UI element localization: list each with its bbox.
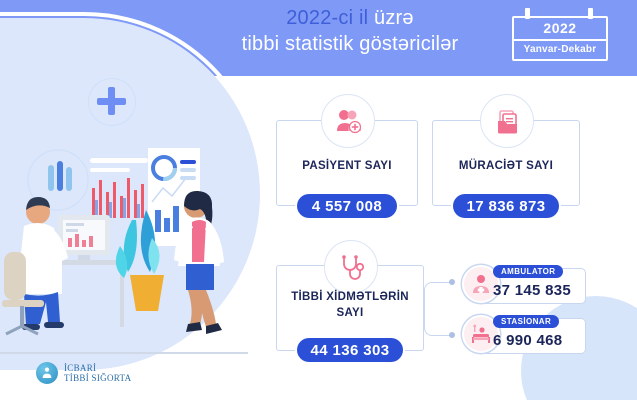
stethoscope-icon [324, 240, 378, 294]
title-line-2: tibbi statistik göstəricilər [200, 32, 500, 58]
card-muraciet-value: 17 836 873 [453, 194, 559, 218]
connector-dot-stasionar [449, 332, 455, 338]
clinic-scene-illustration [0, 60, 250, 360]
card-tibbi-xidmet-label: TİBBİ XİDMƏTLƏRİN SAYI [276, 290, 424, 321]
title-accent-text: 2022-ci il [286, 7, 374, 29]
card-tibbi-xidmet-value: 44 136 303 [297, 338, 403, 362]
card-muraciet-label: MÜRACİƏT SAYI [432, 159, 580, 175]
logo-line-2: TİBBİ SIĞORTA [64, 373, 131, 383]
illustration [0, 60, 250, 360]
logo-line-1: İCBARİ [64, 363, 131, 373]
card-pasiyent-label: PASİYENT SAYI [276, 159, 418, 175]
subcard-ambulator-value: 37 145 835 [493, 282, 571, 299]
page-title: 2022-ci il üzrə tibbi statistik göstəric… [200, 6, 500, 57]
connector-ambulator [424, 282, 453, 309]
infographic-root: 2022-ci il üzrə tibbi statistik göstəric… [0, 0, 637, 400]
logo-text: İCBARİ TİBBİ SIĞORTA [64, 363, 131, 384]
calendar-range: Yanvar-Dekabr [514, 41, 606, 59]
subcard-ambulator-badge: AMBULATOR [493, 265, 563, 278]
connector-dot-ambulator [449, 279, 455, 285]
title-line-1: 2022-ci il üzrə [200, 6, 500, 32]
calendar-body: 2022 Yanvar-Dekabr [512, 16, 608, 61]
card-tibbi-xidmet-label-line2: SAYI [337, 307, 364, 319]
insurance-emblem-icon [36, 362, 58, 384]
calendar-icon: 2022 Yanvar-Dekabr [512, 8, 608, 61]
calendar-ring-left [525, 8, 530, 19]
subcard-stasionar-badge: STASİONAR [493, 315, 559, 328]
calendar-ring-right [588, 8, 593, 19]
connector-stasionar [424, 308, 453, 336]
calendar-rings [512, 8, 608, 16]
calendar-year: 2022 [514, 18, 606, 41]
card-pasiyent-value: 4 557 008 [297, 194, 397, 218]
folder-documents-icon [480, 94, 534, 148]
card-tibbi-xidmet-label-line1: TİBBİ XİDMƏTLƏRİN [291, 291, 409, 303]
logo: İCBARİ TİBBİ SIĞORTA [36, 362, 131, 384]
add-user-icon [321, 94, 375, 148]
title-light-text: üzrə [374, 7, 414, 29]
subcard-stasionar-value: 6 990 468 [493, 332, 562, 349]
